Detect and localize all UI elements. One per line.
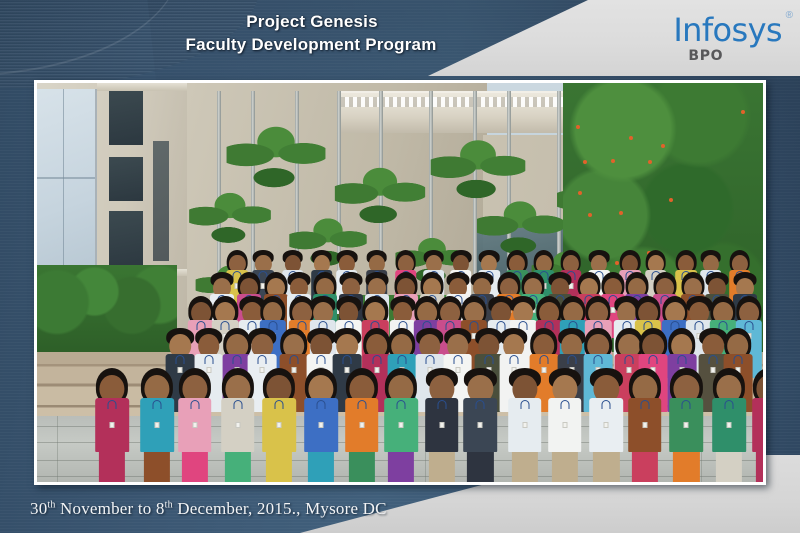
photo-participant	[670, 369, 704, 482]
infosys-wordmark: Infosys	[673, 14, 782, 46]
photo-participant	[345, 369, 379, 482]
photo-participant	[384, 369, 418, 482]
slide-title-line-2: Faculty Development Program	[0, 33, 620, 56]
photo-participant-lanyard	[682, 400, 691, 409]
photo-participant-badge	[109, 422, 114, 428]
photo-participant-badge	[277, 422, 282, 428]
photo-participant	[262, 369, 296, 482]
photo-participant-lanyard	[484, 355, 493, 364]
photo-participant	[95, 369, 129, 482]
photo-flower	[629, 136, 633, 140]
photo-participant-lanyard	[289, 355, 298, 364]
caption-ordinal-2: th	[165, 499, 173, 510]
logo-subbrand-bpo: BPO	[688, 49, 782, 63]
photo-participant-lanyard	[649, 355, 658, 364]
photo-participant-lanyard	[520, 400, 529, 409]
photo-participant-badge	[684, 422, 689, 428]
photo-participant-legs	[512, 452, 538, 482]
photo-flower	[661, 144, 665, 148]
photo-participant-badge	[439, 422, 444, 428]
slide-caption: 30th November to 8th December, 2015., My…	[30, 499, 387, 519]
photo-participant-badge	[155, 422, 160, 428]
photo-participant-legs	[632, 452, 658, 482]
photo-participant-lanyard	[437, 400, 446, 409]
photo-participant-badge	[541, 367, 546, 373]
photo-participant-lanyard	[204, 355, 213, 364]
photo-pavement-seam	[57, 416, 58, 482]
photo-participant-legs	[673, 452, 699, 482]
slide-title-line-1: Project Genesis	[0, 10, 620, 33]
caption-middle: November to 8	[56, 499, 165, 518]
photo-participant-torso	[752, 398, 763, 451]
photo-participant-badge	[318, 422, 323, 428]
photo-palm	[227, 126, 326, 197]
photo-participant	[508, 369, 542, 482]
photo-participant-lanyard	[153, 400, 162, 409]
photo-participant-lanyard	[593, 355, 602, 364]
photo-participant-lanyard	[602, 400, 611, 409]
photo-participant	[178, 369, 212, 482]
photo-participant-lanyard	[397, 400, 406, 409]
photo-participant-lanyard	[258, 355, 267, 364]
photo-participant-legs	[144, 452, 170, 482]
photo-participant-legs	[429, 452, 455, 482]
photo-participant-legs	[182, 452, 208, 482]
photo-participant-badge	[562, 422, 567, 428]
photo-participant-lanyard	[733, 355, 742, 364]
photo-participant-lanyard	[677, 355, 686, 364]
photo-participant	[712, 369, 746, 482]
photo-participant-lanyard	[316, 400, 325, 409]
photo-participant-badge	[522, 422, 527, 428]
photo-participant-badge	[192, 422, 197, 428]
photo-participant-lanyard	[357, 400, 366, 409]
photo-participant	[464, 369, 498, 482]
photo-participant-badge	[359, 422, 364, 428]
photo-palm	[189, 193, 271, 252]
photo-participant-lanyard	[316, 355, 325, 364]
photo-participant	[140, 369, 174, 482]
photo-flower	[741, 110, 745, 114]
photo-participant-badge	[604, 422, 609, 428]
photo-palm	[431, 140, 526, 208]
photo-flower	[669, 198, 673, 202]
photo-participant-lanyard	[343, 355, 352, 364]
caption-end: December, 2015., Mysore DC	[173, 499, 387, 518]
photo-participant-badge	[399, 422, 404, 428]
photo-participant-lanyard	[425, 355, 434, 364]
photo-participant-lanyard	[560, 400, 569, 409]
photo-participant-legs	[388, 452, 414, 482]
photo-participant-lanyard	[708, 355, 717, 364]
registered-trademark-icon: ®	[786, 11, 793, 21]
photo-participant-legs	[716, 452, 742, 482]
photo-flower	[588, 213, 592, 217]
photo-participant	[628, 369, 662, 482]
photo-participant-lanyard	[476, 400, 485, 409]
photo-participant-legs	[225, 452, 251, 482]
caption-ordinal-1: th	[47, 499, 55, 510]
photo-participant-lanyard	[539, 355, 548, 364]
photo-participant-badge	[727, 422, 732, 428]
group-photo-frame	[34, 80, 766, 485]
photo-participant-lanyard	[372, 355, 381, 364]
photo-participant-lanyard	[233, 355, 242, 364]
photo-flower	[583, 160, 587, 164]
photo-participant-badge	[235, 422, 240, 428]
photo-participant-lanyard	[107, 400, 116, 409]
photo-participant-legs	[552, 452, 578, 482]
photo-flower	[619, 211, 623, 215]
photo-participant-legs	[593, 452, 619, 482]
photo-participant-lanyard	[397, 355, 406, 364]
photo-flower	[578, 191, 582, 195]
photo-participant-legs	[308, 452, 334, 482]
photo-participant-lanyard	[625, 355, 634, 364]
photo-participant-legs	[756, 452, 763, 482]
photo-participant-legs	[467, 452, 493, 482]
photo-participant-lanyard	[509, 355, 518, 364]
photo-participant-legs	[266, 452, 292, 482]
photo-flower	[648, 160, 652, 164]
photo-participant	[548, 369, 582, 482]
photo-participant-legs	[349, 452, 375, 482]
photo-glass-facade-left	[37, 89, 97, 279]
photo-participant	[221, 369, 255, 482]
photo-participant-lanyard	[275, 400, 284, 409]
photo-participant-badge	[478, 422, 483, 428]
photo-participant-lanyard	[233, 400, 242, 409]
photo-participant-legs	[99, 452, 125, 482]
slide-header: Project Genesis Faculty Development Prog…	[0, 10, 620, 56]
photo-participant-lanyard	[567, 355, 576, 364]
photo-participant-lanyard	[176, 355, 185, 364]
photo-participant	[752, 369, 763, 482]
photo-participant-lanyard	[725, 400, 734, 409]
photo-participant	[304, 369, 338, 482]
photo-participant-badge	[642, 422, 647, 428]
infosys-bpo-logo: Infosys® BPO	[673, 14, 782, 63]
photo-participant	[590, 369, 624, 482]
photo-palm	[335, 167, 425, 232]
photo-participant-lanyard	[640, 400, 649, 409]
photo-participant-lanyard	[453, 355, 462, 364]
presentation-slide: Project Genesis Faculty Development Prog…	[0, 0, 800, 533]
caption-start-day: 30	[30, 499, 47, 518]
photo-flower	[611, 159, 615, 163]
photo-flower	[576, 125, 580, 129]
photo-participant	[425, 369, 459, 482]
group-photo	[37, 83, 763, 482]
photo-participant-lanyard	[190, 400, 199, 409]
